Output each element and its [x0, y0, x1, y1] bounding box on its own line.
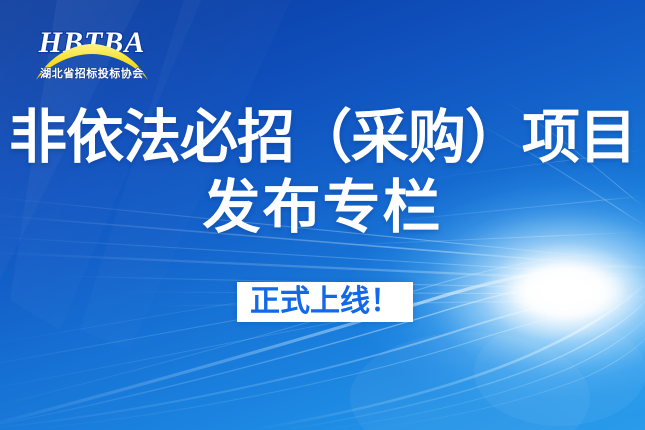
- headline-line-2: 发布专栏: [0, 173, 645, 243]
- promo-banner: HBTBA 湖北省招标投标协会 非依法必招（采购）项目 发布专栏 正式上线！: [0, 0, 645, 430]
- headline-block: 非依法必招（采购）项目 发布专栏: [0, 103, 645, 243]
- logo-org-name-text: 湖北省招标投标协会: [40, 66, 144, 80]
- logo-acronym-text: HBTBA: [38, 26, 146, 59]
- headline-line-1: 非依法必招（采购）项目: [0, 103, 645, 173]
- status-badge-label: 正式上线！: [250, 287, 400, 317]
- hbtba-logo: HBTBA 湖北省招标投标协会: [28, 18, 156, 86]
- status-badge: 正式上线！: [237, 282, 413, 322]
